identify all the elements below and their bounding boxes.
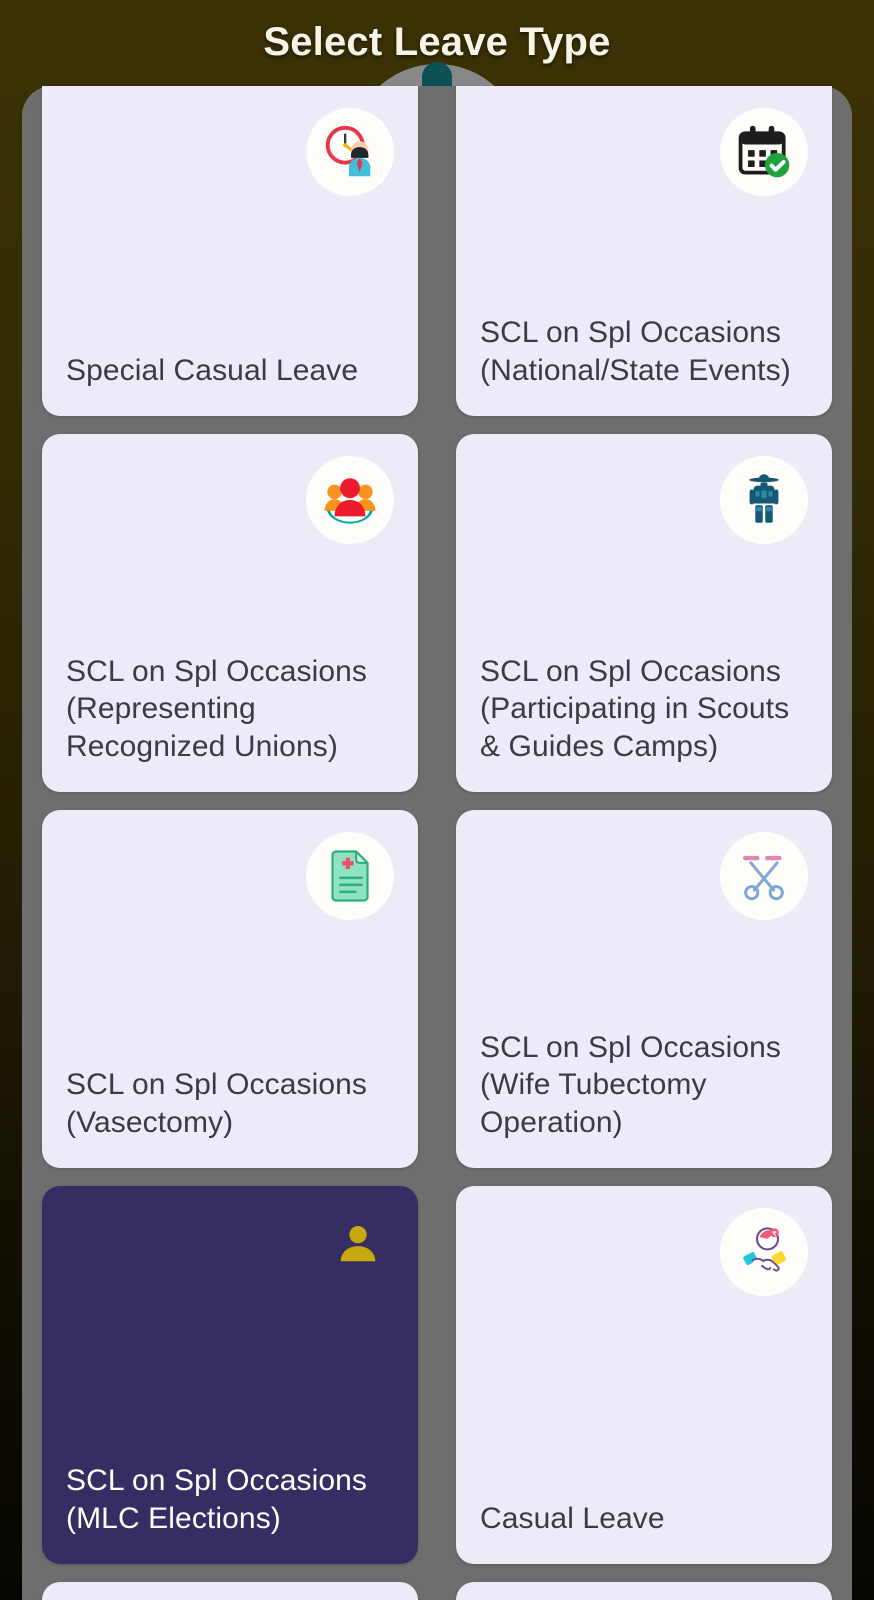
medical-document-icon: [306, 832, 394, 920]
leave-type-card-scl-wife-tubectomy[interactable]: SCL on Spl Occasions (Wife Tubectomy Ope…: [456, 810, 832, 1168]
page-header: Select Leave Type: [0, 0, 874, 84]
leave-type-card-scl-mlc-elections[interactable]: SCL on Spl Occasions (MLC Elections): [42, 1186, 418, 1564]
leave-type-card-scl-national-state-events[interactable]: SCL on Spl Occasions (National/State Eve…: [456, 86, 832, 416]
leave-type-card-scl-vasectomy[interactable]: SCL on Spl Occasions (Vasectomy): [42, 810, 418, 1168]
leave-type-label: SCL on Spl Occasions (Representing Recog…: [66, 653, 394, 766]
leave-type-label: SCL on Spl Occasions (Wife Tubectomy Ope…: [480, 1029, 808, 1142]
leave-type-label: SCL on Spl Occasions (MLC Elections): [66, 1462, 394, 1538]
leave-type-grid: Special Casual Leave SC: [42, 86, 832, 1600]
card-spacer: [480, 196, 808, 314]
page-title: Select Leave Type: [263, 20, 610, 65]
calendar-check-icon: [720, 108, 808, 196]
card-spacer: [66, 1280, 394, 1462]
leave-type-card-scl-representing-unions[interactable]: SCL on Spl Occasions (Representing Recog…: [42, 434, 418, 792]
group-people-icon: [306, 456, 394, 544]
leave-type-label: Special Casual Leave: [66, 352, 394, 390]
leave-type-label: SCL on Spl Occasions (Vasectomy): [66, 1066, 394, 1142]
card-spacer: [66, 196, 394, 352]
scout-person-icon: [720, 456, 808, 544]
leave-type-card-partial-right[interactable]: [456, 1582, 832, 1600]
surgical-scissors-icon: [720, 832, 808, 920]
person-icon: [322, 1208, 394, 1280]
card-spacer: [66, 920, 394, 1066]
clock-person-icon: [306, 108, 394, 196]
app-screen: t J( r 2/300 Select Leave Type: [0, 0, 874, 1600]
leave-type-label: SCL on Spl Occasions (National/State Eve…: [480, 314, 808, 390]
card-spacer: [66, 544, 394, 653]
card-spacer: [480, 1296, 808, 1500]
handshake-icon: ₹: [720, 1208, 808, 1296]
leave-type-label: SCL on Spl Occasions (Participating in S…: [480, 653, 808, 766]
leave-type-card-special-casual-leave[interactable]: Special Casual Leave: [42, 86, 418, 416]
leave-type-card-scl-scouts-guides-camps[interactable]: SCL on Spl Occasions (Participating in S…: [456, 434, 832, 792]
card-spacer: [480, 544, 808, 653]
leave-type-card-casual-leave[interactable]: ₹ Casual Leave: [456, 1186, 832, 1564]
card-spacer: [480, 920, 808, 1029]
leave-type-card-partial-left[interactable]: [42, 1582, 418, 1600]
leave-type-label: Casual Leave: [480, 1500, 808, 1538]
